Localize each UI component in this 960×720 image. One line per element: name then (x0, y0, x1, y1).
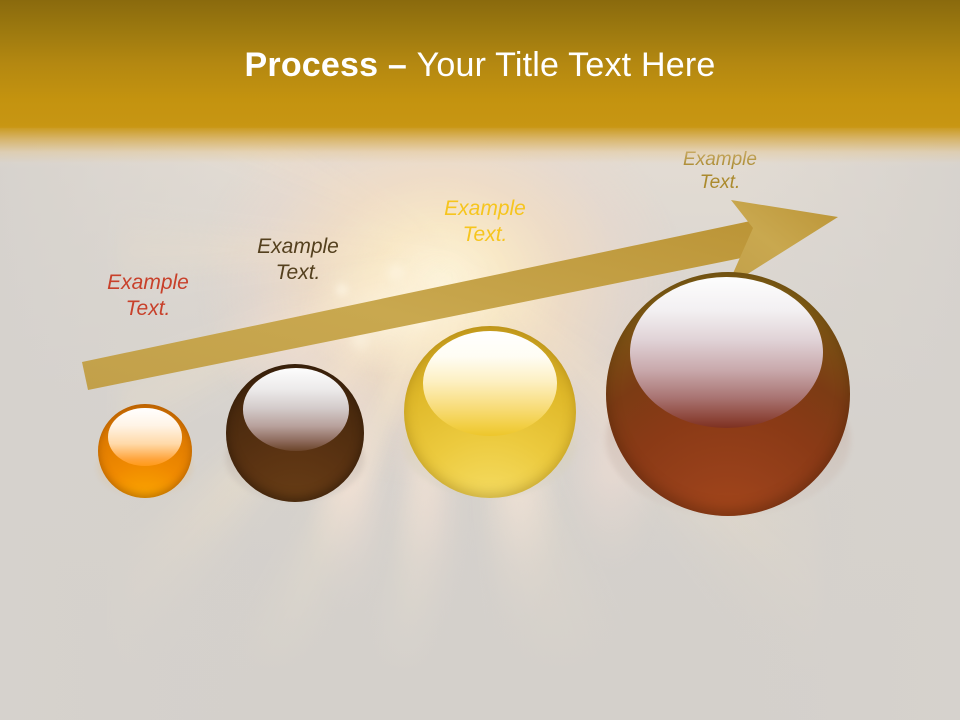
step-label-3[interactable]: Example Text. (422, 196, 548, 247)
brown-sphere-highlight (243, 368, 349, 451)
page-title-rest: Your Title Text Here (417, 46, 716, 84)
gold-sphere[interactable] (404, 326, 576, 498)
page-title-dash: – (378, 46, 416, 84)
page-title: Process – Your Title Text Here (0, 46, 960, 85)
orange-sphere-highlight (108, 408, 181, 466)
title-band-fade (0, 126, 960, 168)
step-label-2[interactable]: Example Text. (236, 234, 360, 285)
brown-sphere[interactable] (226, 364, 364, 502)
rust-sphere-highlight (630, 277, 823, 428)
orange-sphere[interactable] (98, 404, 192, 498)
gold-sphere-highlight (423, 331, 557, 436)
presentation-slide: Example Text. Example Text. Example Text… (0, 0, 960, 720)
page-title-bold: Process (245, 46, 379, 84)
rust-sphere[interactable] (606, 272, 850, 516)
step-label-1[interactable]: Example Text. (86, 270, 210, 321)
